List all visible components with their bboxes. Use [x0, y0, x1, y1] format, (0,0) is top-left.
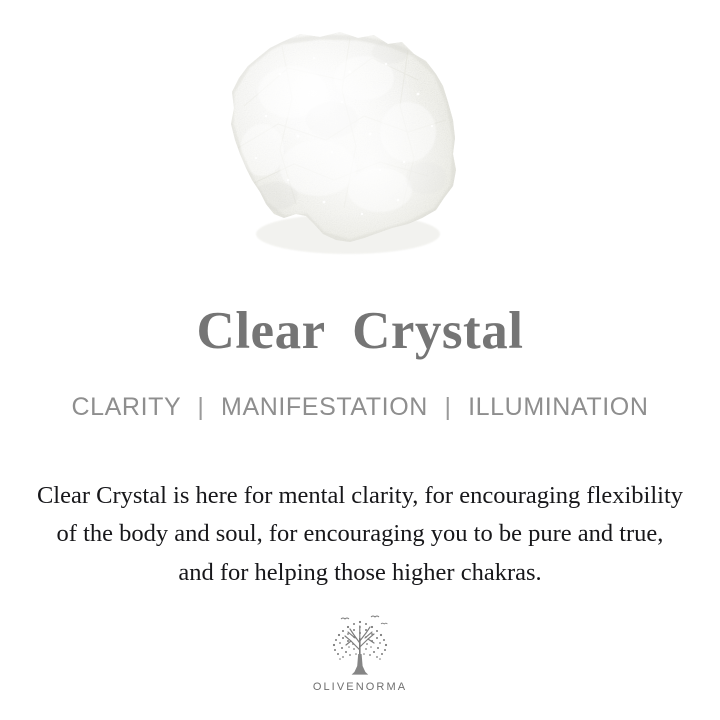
product-image-area	[0, 0, 720, 285]
raw-clear-quartz-crystal-icon	[222, 28, 462, 260]
brand-wordmark: OLIVENORMA	[0, 681, 720, 693]
crystal-image-wrapper	[222, 28, 462, 260]
brand-logo: OLIVENORMA	[0, 614, 720, 693]
product-description: Clear Crystal is here for mental clarity…	[36, 477, 684, 593]
keyword-manifestation: MANIFESTATION	[221, 393, 428, 421]
olive-tree-icon	[321, 614, 399, 680]
keyword-list: CLARITY | MANIFESTATION | ILLUMINATION	[0, 392, 720, 422]
keyword-clarity: CLARITY	[72, 393, 181, 421]
product-info-card: Clear Crystal CLARITY | MANIFESTATION | …	[0, 0, 720, 720]
keyword-separator: |	[444, 392, 451, 422]
keyword-illumination: ILLUMINATION	[468, 393, 648, 421]
page-title: Clear Crystal	[0, 300, 720, 362]
keyword-separator: |	[197, 392, 204, 422]
